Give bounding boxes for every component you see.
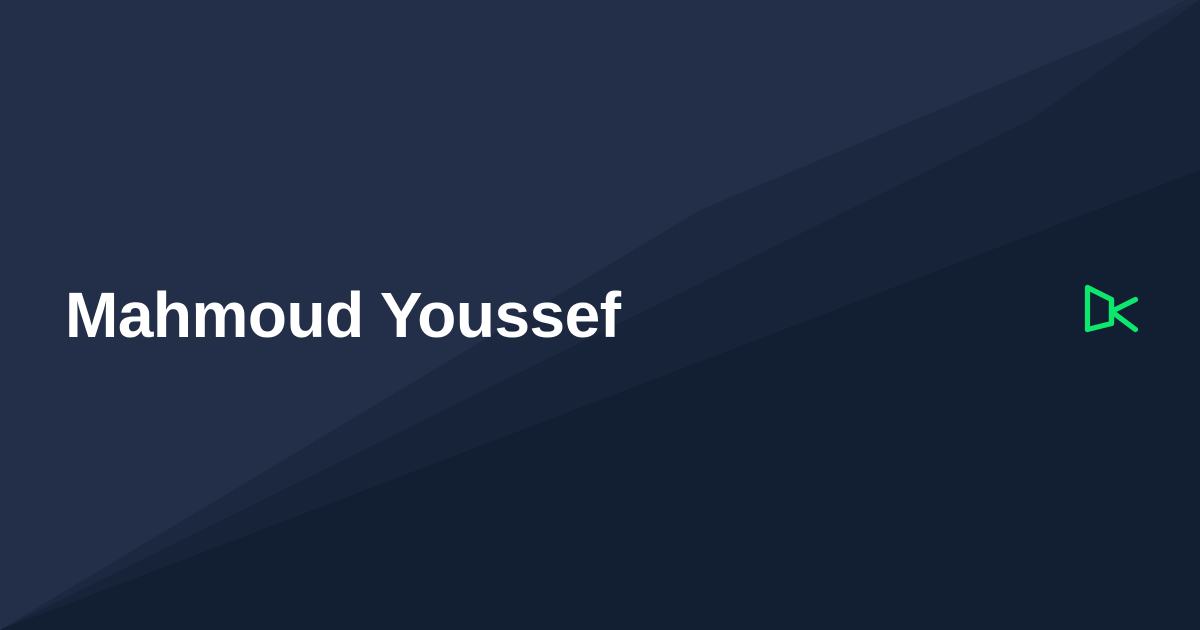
social-share-card: Mahmoud Youssef (0, 0, 1200, 630)
title-block: Mahmoud Youssef (65, 0, 621, 630)
deeplearning-ai-logo (1083, 282, 1141, 340)
deeplearning-ai-logo-icon (1083, 282, 1141, 340)
page-title: Mahmoud Youssef (65, 280, 621, 350)
